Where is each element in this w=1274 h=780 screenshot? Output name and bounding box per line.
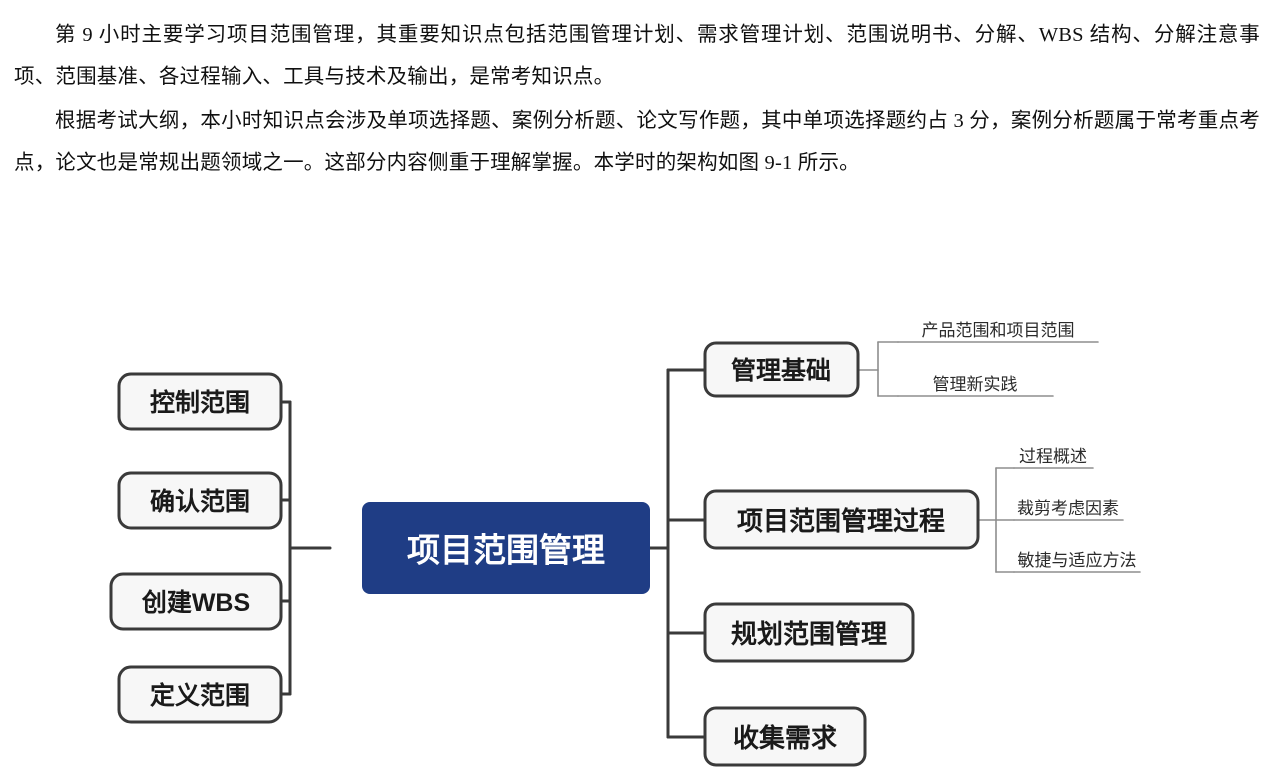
leaf-process-overview[interactable]: 过程概述 — [1014, 447, 1093, 468]
node-define-scope-label: 定义范围 — [150, 681, 250, 710]
node-collect-requirements-label: 收集需求 — [733, 723, 837, 753]
leaf-tailoring-factors-label: 裁剪考虑因素 — [1017, 499, 1119, 518]
node-define-scope[interactable]: 定义范围 — [119, 667, 281, 722]
node-management-foundation-label: 管理基础 — [731, 356, 831, 385]
mindmap-diagram: 控制范围 确认范围 创建WBS 定义范围 项目范围管理 管理基础 项目范围管理过… — [0, 296, 1274, 780]
node-root-label: 项目范围管理 — [407, 532, 605, 569]
paragraph-1: 第 9 小时主要学习项目范围管理，其重要知识点包括范围管理计划、需求管理计划、范… — [0, 14, 1274, 98]
leaf-process-overview-label: 过程概述 — [1019, 447, 1087, 466]
node-scope-management-process[interactable]: 项目范围管理过程 — [705, 491, 978, 548]
leaf-tailoring-factors[interactable]: 裁剪考虑因素 — [1014, 499, 1123, 520]
node-root-project-scope-management[interactable]: 项目范围管理 — [362, 502, 650, 594]
node-collect-requirements[interactable]: 收集需求 — [705, 708, 865, 765]
node-validate-scope-label: 确认范围 — [150, 487, 250, 516]
document-text-block: 第 9 小时主要学习项目范围管理，其重要知识点包括范围管理计划、需求管理计划、范… — [0, 0, 1274, 184]
leaf-agile-adaptive-methods[interactable]: 敏捷与适应方法 — [1014, 551, 1140, 572]
node-create-wbs[interactable]: 创建WBS — [111, 574, 281, 629]
leaf-product-and-project-scope[interactable]: 产品范围和项目范围 — [898, 321, 1098, 342]
mindmap-svg: 控制范围 确认范围 创建WBS 定义范围 项目范围管理 管理基础 项目范围管理过… — [0, 296, 1274, 780]
node-plan-scope-management[interactable]: 规划范围管理 — [705, 604, 913, 661]
node-plan-scope-management-label: 规划范围管理 — [731, 619, 887, 649]
node-control-scope-label: 控制范围 — [150, 389, 250, 417]
leaf-product-and-project-scope-label: 产品范围和项目范围 — [922, 321, 1075, 340]
node-create-wbs-label: 创建WBS — [141, 589, 250, 617]
node-scope-management-process-label: 项目范围管理过程 — [737, 506, 945, 536]
node-control-scope[interactable]: 控制范围 — [119, 374, 281, 429]
node-management-foundation[interactable]: 管理基础 — [705, 343, 858, 396]
leaf-agile-adaptive-methods-label: 敏捷与适应方法 — [1018, 551, 1137, 570]
leaf-management-new-practice-label: 管理新实践 — [933, 375, 1018, 394]
node-validate-scope[interactable]: 确认范围 — [119, 473, 281, 528]
leaf-management-new-practice[interactable]: 管理新实践 — [898, 375, 1053, 396]
paragraph-2: 根据考试大纲，本小时知识点会涉及单项选择题、案例分析题、论文写作题，其中单项选择… — [0, 100, 1274, 184]
